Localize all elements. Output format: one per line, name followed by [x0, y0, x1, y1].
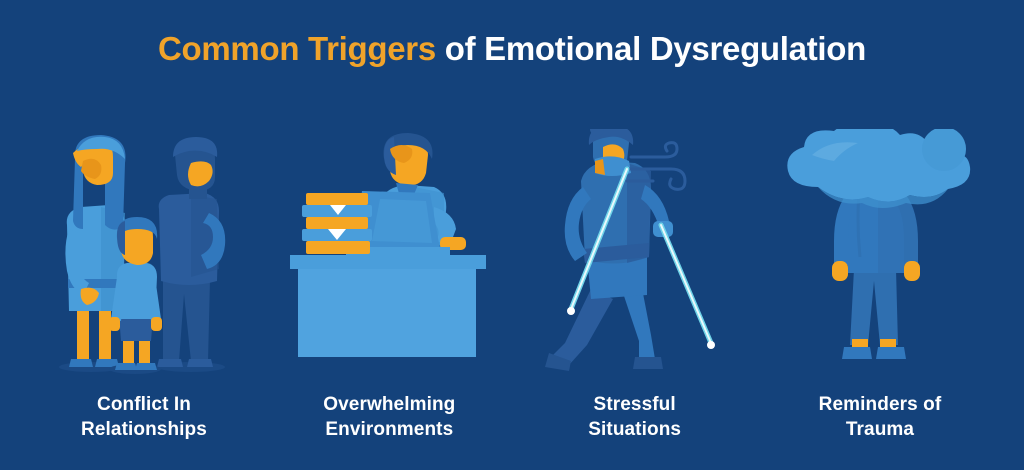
trigger-label-conflict-in-relationships: Conflict In Relationships	[28, 393, 260, 442]
trigger-label-overwhelming-environments: Overwhelming Environments	[273, 393, 505, 442]
storm-cloud-over-head	[788, 129, 971, 208]
infographic-canvas: Common Triggers of Emotional Dysregulati…	[0, 0, 1024, 470]
desk	[290, 255, 486, 357]
trigger-card-row: Conflict In Relationships	[0, 112, 1024, 442]
person-with-trekking-poles-figure	[545, 129, 715, 371]
woman-hands-on-head-figure	[59, 135, 126, 372]
walking-into-wind-illustration	[519, 129, 751, 375]
trekking-pole-front	[661, 225, 715, 349]
desk-overwork-illustration	[273, 129, 505, 375]
trigger-card-reminders-of-trauma: Reminders of Trauma	[764, 112, 996, 442]
trigger-label-stressful-situations: Stressful Situations	[519, 393, 751, 442]
man-turned-away-figure	[157, 137, 225, 372]
trigger-label-reminders-of-trauma: Reminders of Trauma	[764, 393, 996, 442]
page-title-accent: Common Triggers	[158, 30, 436, 67]
family-conflict-illustration	[28, 129, 260, 375]
head-in-cloud-illustration	[764, 129, 996, 375]
page-title: Common Triggers of Emotional Dysregulati…	[0, 30, 1024, 68]
trigger-card-stressful-situations: Stressful Situations	[519, 112, 751, 442]
trigger-card-conflict-in-relationships: Conflict In Relationships	[28, 112, 260, 442]
trigger-card-overwhelming-environments: Overwhelming Environments	[273, 112, 505, 442]
page-title-plain: of Emotional Dysregulation	[436, 30, 866, 67]
stack-of-books	[302, 193, 372, 254]
